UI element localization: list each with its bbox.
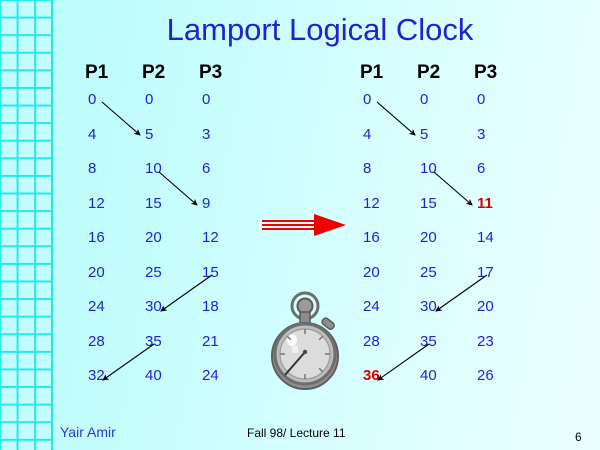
table-row: 16 20 12 <box>80 228 251 263</box>
cell-p1: 20 <box>355 263 412 298</box>
column-header-p2: P2 <box>137 62 194 90</box>
table-row: 36 40 26 <box>355 366 526 401</box>
cell-p3: 0 <box>469 90 526 125</box>
cell-p3: 23 <box>469 332 526 367</box>
cell-p1: 0 <box>355 90 412 125</box>
table-header-row: P1 P2 P3 <box>355 62 526 90</box>
cell-p3: 18 <box>194 297 251 332</box>
cell-p1: 4 <box>355 125 412 160</box>
column-header-p1: P1 <box>80 62 137 90</box>
table-row: 12 15 11 <box>355 194 526 229</box>
cell-p3: 15 <box>194 263 251 298</box>
column-header-p3: P3 <box>469 62 526 90</box>
cell-p3: 26 <box>469 366 526 401</box>
cell-p2: 5 <box>412 125 469 160</box>
table-row: 8 10 6 <box>80 159 251 194</box>
column-header-p3: P3 <box>194 62 251 90</box>
cell-p1: 4 <box>80 125 137 160</box>
cell-p2: 25 <box>137 263 194 298</box>
cell-p3: 12 <box>194 228 251 263</box>
cell-p1: 20 <box>80 263 137 298</box>
table-row: 24 30 20 <box>355 297 526 332</box>
page-title: Lamport Logical Clock <box>0 12 600 48</box>
cell-p3: 3 <box>194 125 251 160</box>
cell-p1-highlighted: 36 <box>355 366 412 401</box>
table-row: 4 5 3 <box>355 125 526 160</box>
cell-p2: 15 <box>412 194 469 229</box>
table-row: 0 0 0 <box>80 90 251 125</box>
stopwatch-icon <box>259 291 351 391</box>
cell-p1: 16 <box>355 228 412 263</box>
cell-p3: 24 <box>194 366 251 401</box>
lecture-label: Fall 98/ Lecture 11 <box>247 426 346 440</box>
cell-p2: 30 <box>137 297 194 332</box>
slide-canvas: Lamport Logical Clock P1 P2 P3 0 0 0 4 5… <box>0 0 600 450</box>
decorative-grid-strip <box>0 0 53 450</box>
cell-p2: 0 <box>412 90 469 125</box>
cell-p1: 0 <box>80 90 137 125</box>
cell-p2: 10 <box>137 159 194 194</box>
author-label: Yair Amir <box>60 424 116 440</box>
table-row: 4 5 3 <box>80 125 251 160</box>
cell-p2: 35 <box>412 332 469 367</box>
cell-p1: 12 <box>80 194 137 229</box>
column-header-p2: P2 <box>412 62 469 90</box>
table-row: 28 35 23 <box>355 332 526 367</box>
cell-p3: 17 <box>469 263 526 298</box>
cell-p1: 8 <box>80 159 137 194</box>
cell-p2: 35 <box>137 332 194 367</box>
cell-p3: 21 <box>194 332 251 367</box>
table-row: 16 20 14 <box>355 228 526 263</box>
cell-p1: 28 <box>355 332 412 367</box>
cell-p3: 14 <box>469 228 526 263</box>
cell-p2: 40 <box>137 366 194 401</box>
cell-p2: 0 <box>137 90 194 125</box>
cell-p2: 30 <box>412 297 469 332</box>
table-row: 20 25 15 <box>80 263 251 298</box>
cell-p3: 6 <box>194 159 251 194</box>
page-number: 6 <box>575 430 582 444</box>
cell-p2: 10 <box>412 159 469 194</box>
grid-strip-edge <box>51 0 53 450</box>
cell-p3: 20 <box>469 297 526 332</box>
cell-p2: 25 <box>412 263 469 298</box>
table-row: 20 25 17 <box>355 263 526 298</box>
table-row: 12 15 9 <box>80 194 251 229</box>
table-row: 28 35 21 <box>80 332 251 367</box>
cell-p1: 12 <box>355 194 412 229</box>
cell-p3: 9 <box>194 194 251 229</box>
cell-p1: 24 <box>355 297 412 332</box>
cell-p3: 0 <box>194 90 251 125</box>
table-row: 24 30 18 <box>80 297 251 332</box>
column-header-p1: P1 <box>355 62 412 90</box>
cell-p2: 20 <box>412 228 469 263</box>
table-row: 32 40 24 <box>80 366 251 401</box>
cell-p2: 5 <box>137 125 194 160</box>
table-row: 8 10 6 <box>355 159 526 194</box>
cell-p3-highlighted: 11 <box>469 194 526 229</box>
right-arrow-icon <box>262 212 348 240</box>
cell-p3: 6 <box>469 159 526 194</box>
table-header-row: P1 P2 P3 <box>80 62 251 90</box>
cell-p1: 24 <box>80 297 137 332</box>
cell-p1: 32 <box>80 366 137 401</box>
cell-p3: 3 <box>469 125 526 160</box>
clock-table-after: P1 P2 P3 0 0 0 4 5 3 8 10 6 12 15 11 16 … <box>355 62 526 401</box>
cell-p2: 15 <box>137 194 194 229</box>
clock-table-before: P1 P2 P3 0 0 0 4 5 3 8 10 6 12 15 9 16 2… <box>80 62 251 401</box>
cell-p1: 28 <box>80 332 137 367</box>
cell-p2: 40 <box>412 366 469 401</box>
cell-p1: 16 <box>80 228 137 263</box>
table-row: 0 0 0 <box>355 90 526 125</box>
cell-p1: 8 <box>355 159 412 194</box>
cell-p2: 20 <box>137 228 194 263</box>
